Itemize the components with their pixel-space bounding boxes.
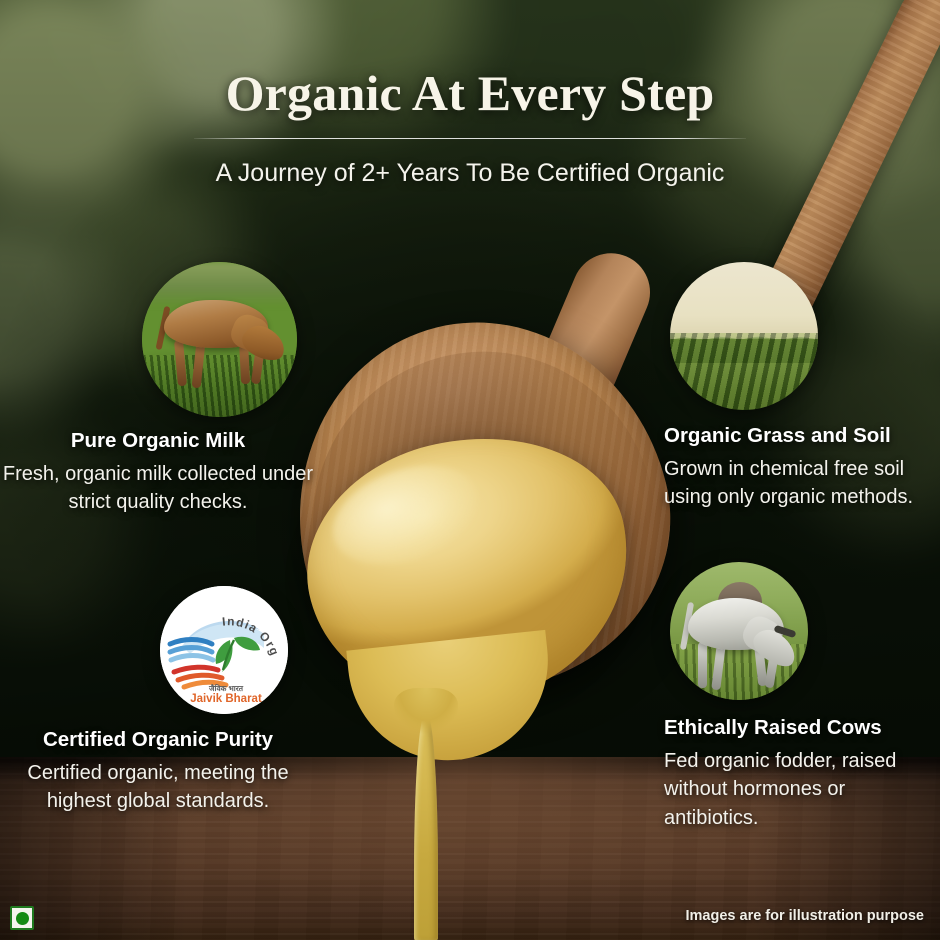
india-organic-badge: India Organic जैविक भारत Jaivik Bharat <box>160 586 288 714</box>
green-field-photo <box>670 262 818 410</box>
feature-description: Certified organic, meeting the highest g… <box>0 759 316 816</box>
jaivik-bharat-logo-icon: India Organic जैविक भारत Jaivik Bharat <box>160 586 288 714</box>
vegetarian-green-dot <box>16 912 29 925</box>
feature-description: Grown in chemical free soil using only o… <box>664 455 940 512</box>
feature-description: Fresh, organic milk collected under stri… <box>0 460 316 517</box>
feature-organic-grass-and-soil: Organic Grass and Soil Grown in chemical… <box>664 262 940 512</box>
feature-pure-organic-milk: Pure Organic Milk Fresh, organic milk co… <box>0 262 316 517</box>
feature-certified-organic-purity: India Organic जैविक भारत Jaivik Bharat C… <box>0 586 316 816</box>
feature-title: Organic Grass and Soil <box>664 424 940 448</box>
infographic-canvas: Organic At Every Step A Journey of 2+ Ye… <box>0 0 940 940</box>
brown-cow-photo <box>142 262 297 417</box>
feature-description: Fed organic fodder, raised without hormo… <box>664 747 940 832</box>
illustration-disclaimer: Images are for illustration purpose <box>686 908 925 924</box>
feature-ethically-raised-cows: Ethically Raised Cows Fed organic fodder… <box>664 562 940 832</box>
badge-hindi-text: जैविक भारत <box>208 684 244 693</box>
page-title: Organic At Every Step <box>0 66 940 120</box>
title-divider <box>194 138 746 139</box>
page-subtitle: A Journey of 2+ Years To Be Certified Or… <box>0 155 940 191</box>
header-block: Organic At Every Step A Journey of 2+ Ye… <box>0 66 940 191</box>
feature-title: Pure Organic Milk <box>0 429 316 453</box>
white-cow-photo <box>670 562 808 700</box>
feature-title: Certified Organic Purity <box>0 728 316 752</box>
badge-name-text: Jaivik Bharat <box>190 693 262 705</box>
feature-title: Ethically Raised Cows <box>664 716 940 740</box>
vegetarian-mark-icon <box>10 906 34 930</box>
